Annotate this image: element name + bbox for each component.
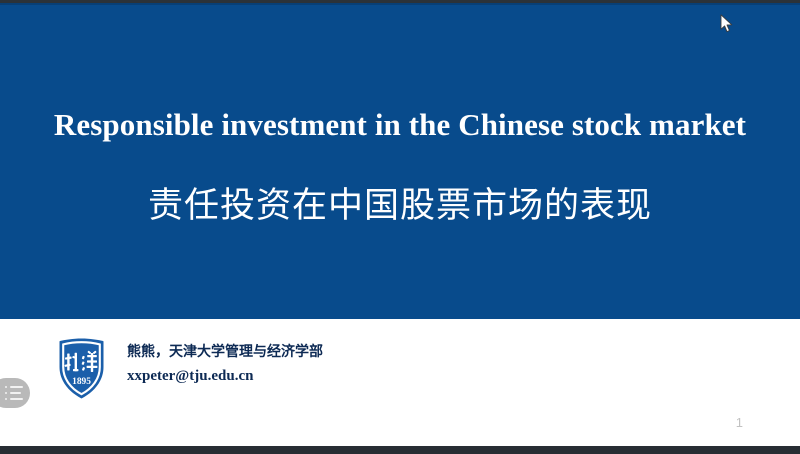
author-email: xxpeter@tju.edu.cn [127,366,607,387]
slide-viewport: Responsible investment in the Chinese st… [0,0,800,454]
author-name: 熊熊，天津大学管理与经济学部 [127,342,607,362]
presenter-menu-button[interactable] [0,378,30,408]
bulleted-list-icon [5,386,23,400]
logo-year: 1895 [72,377,91,387]
slide-title-english: Responsible investment in the Chinese st… [50,104,750,145]
slide-number: 1 [736,415,743,430]
window-chrome-bottom [0,446,800,454]
slide-title-chinese: 责任投资在中国股票市场的表现 [50,184,750,228]
tju-shield-logo-icon: 1895 [57,337,106,400]
slide-title-band [0,3,800,319]
author-info-block: 熊熊，天津大学管理与经济学部 xxpeter@tju.edu.cn [127,342,607,387]
slide-title-band-edge [0,3,800,5]
